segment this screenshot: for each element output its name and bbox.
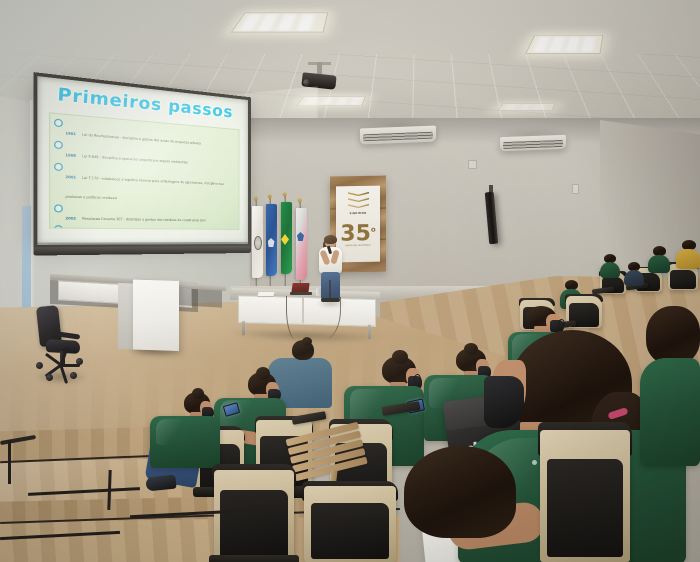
chair-caster-wheel — [36, 362, 43, 369]
bullet-marker-icon — [54, 204, 63, 212]
auditorium-seat[interactable] — [540, 430, 630, 562]
office-chair — [32, 306, 88, 384]
ceiling-light-panel — [231, 13, 328, 33]
attendee-green-right-edge — [640, 306, 700, 466]
ceiling-projector — [300, 62, 344, 96]
flag-finial-icon — [253, 195, 258, 202]
attendee-green-front-left — [150, 392, 220, 488]
attendee-blue-shirt-head — [288, 340, 318, 364]
seat-inner — [220, 490, 287, 558]
ac-vent-icon — [363, 132, 433, 142]
bullet-year: 1988 — [65, 153, 76, 158]
attendee-back-row — [676, 240, 700, 268]
presenter-leg-gap — [329, 280, 331, 299]
attendee-back-row — [648, 246, 670, 270]
chair-caster-wheel — [70, 372, 77, 379]
ceiling-light-panel — [498, 104, 556, 111]
chair-caster-wheel — [76, 358, 83, 365]
flag-brazil — [279, 196, 292, 292]
ceiling-light-panel — [296, 96, 366, 106]
presenter — [314, 236, 348, 302]
auditorium-seat[interactable] — [304, 486, 396, 562]
wall-outlet — [468, 160, 477, 169]
projection-screen: Primeiros passos 1981 Lei da Reurbanizac… — [37, 76, 248, 243]
bullet-text: Resolucao Conama 307 - diretrizes a gest… — [82, 216, 205, 222]
bullet-text: Lei 7.170 - estabelece a logistica rever… — [65, 175, 223, 200]
flag-finial-icon — [297, 197, 302, 204]
table-front-panel — [238, 295, 376, 327]
seat-inner — [311, 503, 388, 559]
auditorium-seat[interactable] — [214, 470, 294, 562]
attendee-back-row — [624, 262, 644, 284]
flag-pink-state — [294, 202, 307, 292]
slide-bullet-list: 1981 Lei da Reurbanizacao - disciplina a… — [49, 112, 239, 230]
lectern-side — [118, 283, 134, 350]
seat-armrest[interactable] — [209, 555, 299, 562]
laptop-base — [290, 292, 312, 295]
projected-slide: Primeiros passos 1981 Lei da Reurbanizac… — [37, 76, 248, 243]
lectern — [118, 279, 180, 353]
ceiling-light-panel — [525, 35, 603, 54]
auditorium-presentation-photo: Primeiros passos 1981 Lei da Reurbanizac… — [0, 0, 700, 562]
flag-row — [250, 196, 312, 292]
seat-inner — [547, 459, 623, 557]
handrail-post[interactable] — [8, 440, 11, 484]
lectern-front — [133, 279, 179, 351]
table-leg — [242, 321, 245, 335]
presenter-hair — [324, 235, 337, 244]
bullet-year: 1981 — [65, 131, 76, 136]
bullet-year: 2001 — [65, 174, 76, 179]
flag-white-institutional — [250, 200, 263, 292]
bullet-marker-icon — [54, 140, 63, 149]
bullet-marker-icon — [54, 162, 63, 171]
air-conditioner-unit — [500, 135, 566, 151]
air-conditioner-unit — [360, 126, 436, 145]
seat-backrest — [418, 490, 506, 562]
table-seam — [302, 297, 304, 323]
ac-vent-icon — [503, 140, 564, 149]
presenter-shoes — [321, 298, 340, 302]
bullet-marker-icon — [54, 119, 63, 128]
flag-emblem-icon — [254, 236, 262, 250]
banner-brand-text: SINDIMOB — [336, 212, 380, 216]
bullet-marker-icon — [54, 226, 63, 230]
papers-on-table — [258, 292, 275, 296]
wall-speaker — [487, 192, 496, 244]
sindimob-logo-icon — [348, 192, 369, 210]
presenter-table — [232, 288, 380, 342]
wall-outlet — [572, 184, 579, 194]
table-leg — [368, 325, 371, 339]
chair-caster-wheel — [46, 374, 53, 381]
bullet-year: 2002 — [65, 216, 76, 221]
flag-blue-municipal — [264, 198, 277, 292]
attendee-back-row — [600, 254, 620, 276]
projector-lens-icon — [303, 79, 310, 86]
slide-bullet: 2002 Resolucao Conama 307 - diretrizes a… — [54, 203, 236, 225]
anniversary-ordinal: o — [371, 226, 376, 234]
laptop — [290, 283, 312, 295]
slide-bullet: 2004 Resolucao Conama 316 - institui dir… — [54, 224, 236, 230]
seat-inner — [670, 270, 695, 289]
flag-cloth — [296, 208, 307, 280]
